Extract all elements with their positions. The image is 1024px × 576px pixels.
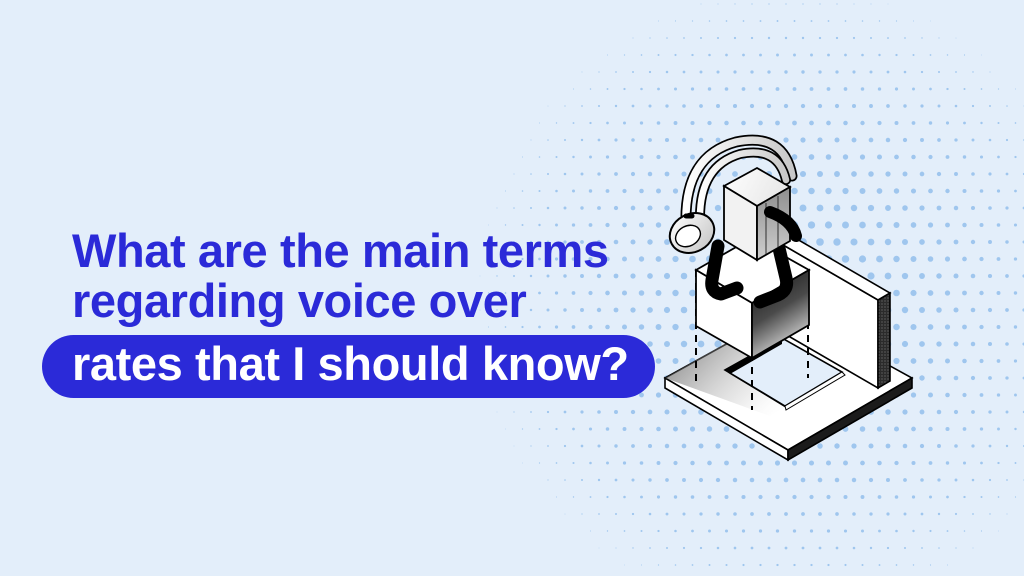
banner-root: What are the main terms regarding voice … — [0, 0, 1024, 576]
floor-hole — [725, 338, 845, 410]
headline-pill-line: rates that I should know? — [72, 339, 629, 389]
headline-pill: rates that I should know? — [42, 335, 655, 398]
headline-line-1: What are the main terms — [42, 226, 682, 276]
dashed-projection-lines — [696, 270, 808, 410]
headline-block: What are the main terms regarding voice … — [42, 226, 682, 398]
headline-line-2: regarding voice over — [42, 276, 682, 326]
headphones-icon — [663, 140, 792, 260]
seat-cube — [696, 238, 809, 358]
acoustic-panel-wall — [770, 230, 890, 400]
character-body — [712, 168, 796, 302]
floor-slab — [665, 310, 912, 460]
